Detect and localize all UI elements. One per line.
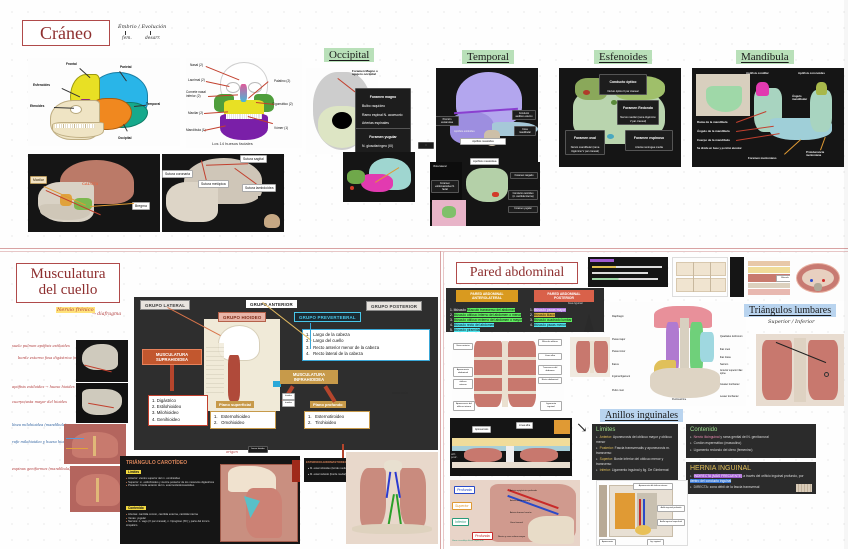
plano-superficial-list[interactable]: 1. Esternohioideo 2. Omohioideo [210,411,276,429]
header-posterior[interactable]: PARED ABDOMINAL POSTERIOR [534,290,594,302]
hand-nervio-frenico: Nervio frénico [56,308,95,314]
musculatura-infrahioidea-box[interactable]: MUSCULATURA INFRAHIOIDEA [280,370,338,384]
grupo-lateral-label[interactable]: GRUPO LATERAL [140,300,190,310]
signature-text: fosa inguinal [568,302,583,305]
hand-diafragma: → diafragma [92,312,121,317]
callout-name-1: Foramen Redondo [623,106,653,110]
triangulo-contenido-label: Contenido [126,506,146,510]
esternocleido-item-1: ▸ M. esternocleido (borde medial) [308,473,347,476]
cross-section-spine [814,283,822,291]
abdominal-top-dark-2[interactable] [730,257,744,297]
callout-foramen-redondo[interactable]: Foramen Redondo Nervio maxilar (rama tri… [617,100,659,125]
limites-item-1: Posterior: Fascia transversalis y aponeu… [596,446,674,456]
header-anterolateral[interactable]: PARED ABDOMINAL ANTEROLATERAL [456,290,518,302]
callout-line-blue [66,438,84,439]
pw-pelvis [650,368,720,398]
label-mandibula: Mandíbula (1) [186,128,206,132]
chip-foramen-estilomastoideo: Foramen estilomastoideo N. facial [431,180,459,193]
callout-name-0: Conducto óptico [610,80,637,84]
infrahyoid-muscle-right [400,468,426,528]
chip-temporal-left: Porción escamosa [436,116,459,126]
label-protuberancia-mentoniana: Protuberancia mentoniana [806,152,834,158]
callout-item-fm-0: Bulbo raquídeo [358,104,408,108]
pw-quadratus [700,332,714,362]
abd2-muscle-r [594,341,608,373]
iv-note-2: Arteria ilíaca externa [510,500,530,502]
occipital-callout-foramen-magno[interactable]: Foramen magno Bulbo raquídeo Ramo espina… [355,88,411,133]
pw-label-sacrum: Sacrum [720,363,728,366]
foramen-magnum-shape [332,112,352,129]
abdominal-muscle-photo-2[interactable] [570,337,614,377]
contenido-item-0: Nervio ilioinguinal y rama genital del N… [690,435,812,440]
limites-item-3: Inferior: Ligamento inguinal y lig. De G… [596,468,674,473]
nasal-cavity [240,84,247,102]
contenido-list: Nervio ilioinguinal y rama genital del N… [690,435,812,452]
callout-conducto-optico[interactable]: Conducto óptico Nervio óptico II par cra… [599,74,647,95]
abd-chip-8: Recto abdominal [538,377,562,384]
iv-note-4: Vena femoral [510,522,523,524]
plano-profundo-label[interactable]: Plano profundo [310,401,346,408]
label-apofisis-estiloides: Apófisis estiloides [454,130,475,133]
divider-horizontal [0,248,848,249]
chip-sutura-lambdoidea: Sutura lambdoidea [242,184,276,192]
pw-label-iliacus: Iliacus [612,363,619,366]
orbit-left [226,82,240,93]
label-foramen-mentoniano: Foramen mentoniano [748,156,776,160]
hernia-side-swatch [796,484,812,492]
abdominal-crosssection-card[interactable]: Aponeurosis Línea alba ant.post. [450,418,572,476]
contenido-item-2: Ligamento redondo del útero (femenino) [690,448,812,453]
mandible-inset-photo [696,74,750,116]
label-occipital: Occipital [118,136,131,140]
label-rama-mandibula: Rama de la mandíbula [697,120,728,124]
hernia-list: INDIRECTA (MÁS FRECUENTE) a través del o… [690,474,812,490]
ic-testis [635,525,651,535]
tri-lim-2: ▸ Posterior: borde anterior del m. ester… [126,484,218,488]
hand-nervio-frenico-text: Nervio frénico [56,307,95,313]
triangulo-red-block [292,460,300,482]
chip-maxilar: Maxilar [30,176,47,184]
label-cuerpo-mandibula: Cuerpo de la mandíbula [697,138,730,142]
ic-chip-bottom-l: Aponeurosis [599,539,616,546]
label-etmoides: Etmoides [30,104,44,108]
layer-fascia [748,283,794,288]
contenido-panel[interactable]: Contenido Nervio ilioinguinal y rama gen… [686,424,816,458]
abdominal-top-dark-card[interactable] [588,257,668,287]
section-title-craneo[interactable]: Cráneo [22,20,110,46]
pw-label-pectineal: Pectineal line [672,398,686,401]
cs-muscle-r [520,448,558,462]
cross-section-vessel-1 [810,279,813,282]
caption-14-huesos: Los 14 huesos faciales [212,141,253,146]
hand-insercion: inserción [392,392,408,396]
pw-label-greater-troch: Greater trochanter [720,384,742,387]
abd-tendon-3 [474,391,536,394]
chip-profunda[interactable]: Profunda [454,486,475,494]
label-apofisis-coronoides: Apófisis coronoides [798,71,825,75]
section-title-esfenoides[interactable]: Esfenoides [594,50,652,64]
callout-desc-3: Nervio mandibular (rama trigémino V par … [571,146,600,153]
callout-foramen-oval[interactable]: Foramen oval Nervio mandibular (rama tri… [565,130,605,155]
ic-chip-mid: Anillo inguinal profundo [657,505,685,512]
neck-illus-border [220,464,298,542]
hand-note-left-2: apófisis estiloides → hueso hioides [12,385,75,389]
triangulo-title: TRIÁNGULO CAROTÍDEO [126,460,187,466]
cs-chip-linea-alba: Línea alba [516,422,533,429]
neck-img-floor-mouth-1[interactable] [64,424,126,464]
scrollbar-vertical[interactable] [844,0,848,549]
orbit-socket [70,105,82,114]
pw-label-diaphragm: Diaphragm [612,315,624,318]
pw-label-quadratus: Quadratus lumborum [720,336,744,339]
iv-note-6: Vena circunfleja ilíaca superficial [452,540,484,542]
chip-temporal-mid: Apófisis mastoides [460,138,506,145]
label-vomer: Vómer (1) [274,126,288,130]
skull-thumbnail-shape [264,214,280,228]
callout-title-fm: Foramen magno [358,95,408,99]
abd-linea-alba [502,341,508,407]
hernia-item-1: DIRECTA: zona débil de la fascia transve… [690,485,812,490]
esfenoides-3d-card[interactable]: Conducto óptico Nervio óptico II par cra… [559,68,681,167]
lumbar-muscle-left [762,340,792,400]
anterolateral-list[interactable]: 1. Músculo Músculo transverso del abdome… [450,308,526,334]
grupo-posterior-label[interactable]: GRUPO POSTERIOR [366,301,422,311]
abd-muscle-right [508,341,536,407]
label-apofisis-condilar: Apófisis condilar [746,71,769,75]
abd-chip-9: Ligamento inguinal [540,401,562,411]
mouth-floor-raphe-1 [93,436,96,456]
pw-label-pubic-crest: Pubic crest [612,390,630,393]
ic-chip-top: Aponeurosis del oblicuo externo [633,483,673,490]
inguinal-canal-illustration[interactable]: Aponeurosis del oblicuo externo Anillo i… [596,480,688,546]
skull-lateral-diagram[interactable]: Frontal Parietal Esfenoides Etmoides Tem… [28,58,180,146]
chip-below-slide: hueso hioides [248,446,268,453]
contenido-header: Contenido [690,427,812,433]
triangulo-limites-list: ▸ Anterior: vientre superior del m. omoh… [126,477,218,488]
suprahioidea-item-3: 4. Genihioideo [152,417,204,423]
mandible-inset-green [706,86,742,112]
label-divide-base: Se divide en base y porción alveolar [697,147,742,150]
pw-label-lesser-troch: Lesser trochanter [720,396,742,399]
pw-label-iliac-crest: Iliac crest [720,348,730,351]
limites-header: Límites [596,427,674,433]
callout-item-fm-2: Arterias espinales [358,121,408,125]
temporal-3d-card[interactable]: Porción escamosa Apófisis mastoides Cond… [436,68,538,168]
arrow-suprahioidea-down [170,365,174,391]
foramen-ovale-hole [607,134,614,139]
top-card-purple-bar [590,259,614,262]
slide-skull-photo [218,325,260,361]
occipital-3d-magenta [361,174,393,192]
occipital-side-chip: :: [418,142,434,149]
chip-bregma: Bregma [132,202,150,210]
chip-slide-mini-1: hioides [282,393,295,400]
pw-label-psoas-minor: Psoas minor [612,350,625,353]
hand-note-left-0: suelo pulmon apófisis estiloides [12,344,70,348]
curved-arrow-annotation: ↘ [576,420,588,436]
connector-prevertebral [310,323,311,349]
lumbar-marker-dot [824,372,829,377]
infrahyoid-photo[interactable] [346,452,438,544]
occipital-3d-red-dot [350,186,354,190]
iv-note-1: Arteria epigástrica profunda [510,490,537,492]
top-card-line-3 [592,278,658,280]
skull-thumb-card[interactable] [258,196,284,232]
label-parietal: Parietal [120,65,132,69]
hernia-header: HERNIA INGUINAL [690,465,812,472]
chip-sutura-metopica: Sutura metópica [198,180,229,188]
diag-row-1 [676,262,726,276]
label-temporal: Temporal [146,102,160,106]
temporal-base-green [442,206,456,218]
plano-profundo-list[interactable]: 1. Esternotiroideo 2. Tirohioideo [304,411,370,429]
infrahyoid-clavicle [352,524,432,534]
label-angulo-mandibular: Ángulo mandibular [792,95,808,101]
posterior-wall-diagram[interactable]: Diaphragm Psoas major Psoas minor Iliacu… [610,302,746,406]
limites-list: Anterior: Aponeurosis del oblicuo mayor … [596,435,674,473]
chip-foramen-rasgado: Foramen rasgado [510,172,538,179]
divider-vertical-2 [443,251,444,549]
callout-desc-0: Nervio óptico II par craneal [608,90,639,93]
chip-sutura-coronaria: Sutura coronaria [162,170,193,178]
pw-label-iliac-fossa: Iliac fossa [720,356,731,359]
ic-cord-blue [643,499,645,527]
prevertebral-item-3: 4. Recto lateral de la cabeza [306,351,426,357]
handwritten-note-craneo-sub-left: fem. [122,36,132,41]
esternocleido-item-0: ▸ M. esternohioideo (borde medial) [308,467,348,470]
pw-label-inguinal-lig: Inguinal ligament [612,376,634,379]
handwritten-arrow-2 [150,31,151,35]
infrahyoid-green-line [387,494,395,528]
ic-chip-low: Anillo inguinal superficial [657,519,685,526]
chip-temporal-right-2: Fosa mandibular [514,126,536,136]
mandibula-card[interactable]: Apófisis condilar Apófisis coronoides Án… [692,68,844,167]
abd-muscle-left [474,341,502,407]
title-line-2: del cuello [39,283,98,299]
mandible-ramus-right-3d [810,90,832,132]
ic-left-column [599,485,607,537]
grupo-anterior-label[interactable]: GRUPO ANTERIOR [246,300,297,308]
chip-apofisis-mastoidea: Apófisis mastoidea [470,158,499,165]
layer-skin [748,261,794,266]
callout-title-fy: Foramen yugular [358,135,408,139]
abdominal-top-diagram-1[interactable] [672,257,728,297]
cs-muscle-l [464,448,502,462]
abd-tendon-2 [474,375,536,378]
top-card-line-1 [592,266,662,268]
condyle-magenta [756,82,769,96]
cs-chip-aponeurosis: Aponeurosis [472,426,491,433]
diag-sep-1 [693,262,694,292]
divider-vertical [440,251,441,549]
callout-foramen-espinoso[interactable]: Foramen espinoso Arteria meníngea media [625,130,673,151]
section-title-temporal[interactable]: Temporal [462,50,514,64]
label-lacrimal: Lacrimal (2) [188,78,205,82]
pared-abdominal-slide[interactable]: PARED ABDOMINAL ANTEROLATERAL PARED ABDO… [446,288,604,332]
abd-chip-6: Línea alba [538,353,562,360]
plano-superficial-label[interactable]: Plano superficial [216,401,254,408]
neck-img-mandible[interactable] [76,383,128,423]
triangulo-illustration [220,464,298,542]
abd-tendon-1 [474,357,536,360]
chip-superior[interactable]: Superior [452,502,472,510]
triangulo-carotideo-card[interactable]: TRIÁNGULO CAROTÍDEO Límites ▸ Anterior: … [120,456,300,544]
callout-desc-2: Arteria meníngea media [635,146,663,149]
grupo-hioideo-label[interactable]: GRUPO HIOIDEO [218,312,266,322]
cs-hand-label: ant.post. [451,454,457,460]
hand-note-left-4: línea milohioidea (mandíbula) [12,423,66,427]
lumbar-triangles-photo[interactable] [756,334,844,406]
label-nasal: Nasal (2) [190,63,203,67]
al-item-4: 5. Músculo piramidal [450,328,526,333]
chip-slide-mini-2: tiroides [282,400,295,407]
plano-prof-item-1: 2. Tirohioideo [308,420,366,426]
skull-photo-card-1[interactable]: Maxilar CALOTA Bregma [28,154,160,232]
abd-chip-2: Aponeurosis abdominal [453,367,473,377]
contenido-item-1: Cordón espermático (masculino) [690,441,812,446]
lumbar-spine-center [794,338,806,402]
pw-label-psoas-major: Psoas major [612,338,625,341]
ic-chip-bottom-r: Lig. inguinal [647,539,664,546]
abd-chip-3: oblicuo externo [453,379,473,389]
lumbar-muscle-right [808,340,838,400]
cross-section-vessel-2 [822,279,825,282]
label-cigomatico: Cigomático (2) [272,102,293,106]
neck-img-skull-lateral[interactable] [76,340,128,382]
coronoid-olive [816,82,827,95]
whiteboard-canvas[interactable]: Cráneo Émbrio / Evolución fem. desarr. F… [0,0,848,549]
cs-band-skin [452,438,570,446]
optic-canal-hole [583,90,590,95]
abd2-muscle-l [576,341,590,373]
occipital-3d-green [347,170,365,184]
teeth-row [55,124,95,128]
label-foramen-magno-arrow: Foramen Magno o agujero occipital [352,70,388,77]
callout-item-fy-0: N. glosofaríngeo (IX) [358,144,408,148]
label-frontal: Frontal [66,62,77,66]
slide-cervical-spine [228,355,240,401]
top-card-line-2 [592,272,648,274]
callout-desc-1: Nervio maxilar (rama trigémino V par cra… [620,116,655,123]
callout-item-fm-1: Ramo espinal N. accesorio [358,113,408,117]
label-esfenoides: Esfenoides [33,83,50,87]
hand-triangulos-lumbares: Superior / Inferior [768,320,814,326]
label-angulo-mandibula: Ángulo de la mandíbula [697,129,730,133]
infrahyoid-thyroid [384,460,402,472]
iv-femur [528,516,574,544]
triangulo-contenido-list: ▸ Arterias: carótida común, carótida ext… [126,513,218,528]
layer-peritoneum [748,289,794,295]
slide-spine-labels [206,343,224,395]
hernia-item-0: INDIRECTA (MÁS FRECUENTE) a través del o… [690,474,812,484]
arrow-to-esternocleido [342,444,344,458]
handwritten-note-craneo: Émbrio / Evolución [118,25,166,31]
section-title-triangulos-lumbares[interactable]: Triángulos lumbares [744,304,836,317]
section-title-pared-abdominal[interactable]: Pared abdominal [456,262,578,284]
abd2-linea [590,341,594,373]
label-vista-lateral: Vista lateral [433,165,447,168]
label-cornete-nasal: Cornete nasal inferior (2) [186,91,208,98]
ic-cord-red [639,499,641,527]
iv-note-3: Arteria femoral común [510,512,532,514]
inguinal-vessels-photo[interactable]: Profunda Superior Inferior Profunda Arte… [450,480,580,546]
abd-chip-1: Vaina anterior [453,343,473,350]
temporal-detail-bone [466,168,508,202]
hand-note-left-3: cuerpo/asta mayor del hioides [12,400,67,404]
abd-chip-4: Aponeurosis del oblicuo interno [453,401,475,411]
leader-mand-4 [784,139,801,154]
plano-sup-item-1: 2. Omohioideo [214,420,272,426]
callout-line-orange [66,448,88,449]
suprahioidea-list[interactable]: 1. Digástrico 2. Estilohioideo 3. Milohi… [148,395,208,426]
leader-mand-3 [736,133,780,141]
chip-sutura-sagital: Sutura sagital [240,155,267,163]
hernia-inguinal-panel[interactable]: HERNIA INGUINAL INDIRECTA (MÁS FRECUENTE… [686,462,816,494]
hand-note-left-5: rafe milohioideo y hueso hioides [12,440,71,444]
callout-name-2: Foramen espinoso [634,136,664,140]
chip-inferior[interactable]: Inferior [452,518,469,526]
handwritten-arrow-1 [125,31,126,35]
pw-label-asis: Anterior superior iliac spine [720,370,744,375]
chip-temporal-right-1: Conducto auditivo externo [512,110,536,120]
facial-bones-diagram[interactable]: Nasal (2) Lacrimal (2) Cornete nasal inf… [186,58,302,148]
triangulo-limites-label: Límites [126,470,141,474]
diag-row-2 [676,278,726,292]
hand-origen: origen [226,450,238,454]
section-title-mandibula[interactable]: Mandíbula [736,50,794,64]
cs-band-deep [452,462,570,468]
chip-foramen-yugular-temporal: Foramen yugular [508,206,538,213]
label-maxilar: Maxilar (2) [188,111,203,115]
abd-chip-5: Músculo oblicuo [538,339,562,346]
chip-conducto-carotideo: Conducto carotídeo (A. carótida interna) [508,190,538,200]
divider-horizontal-2 [0,251,848,252]
infrahyoid-muscle-left [360,468,386,528]
neck-img-floor-mouth-2[interactable] [70,466,126,512]
section-title-occipital[interactable]: Occipital [324,48,374,62]
title-line-1: Musculatura [31,267,106,283]
section-title-anillos-inguinales[interactable]: Anillos inguinales [600,409,683,422]
chip-calota: CALOTA [80,180,100,187]
label-palatino: Palatino (2) [274,79,290,83]
tri-cont-2: ▸ Nervios: n. vago (X par craneal), n. h… [126,520,218,527]
temporal-detail-red [492,192,499,197]
cs-orange-block [554,420,570,434]
limites-panel[interactable]: Límites Anterior: Aponeurosis del oblicu… [592,424,678,480]
abdominal-muscle-photo[interactable]: Vaina anterior Aponeurosis abdominal obl… [452,335,564,415]
iv-note-5: Nervio y vena safena mayor [498,536,525,538]
callout-name-3: Foramen oval [574,136,596,140]
prevertebral-list[interactable]: 1. Largo de la cabeza 2. Largo del cuell… [302,329,430,361]
ic-orange-panel [615,493,635,529]
neck-muscles-slide[interactable]: GRUPO LATERAL GRUPO ANTERIOR GRUPO POSTE… [134,297,438,450]
grupo-prevertebral-label[interactable]: GRUPO PREVERTEBRAL [294,312,361,322]
diag-sep-2 [710,262,711,292]
limites-item-0: Anterior: Aponeurosis del oblicuo mayor … [596,435,674,445]
temporal-detail-card[interactable]: Vista lateral Foramen estilomastoideo N.… [430,162,540,226]
leader-mand-5 [820,137,825,150]
layer-fat [748,267,794,273]
musculatura-suprahioidea-box[interactable]: MUSCULATURA SUPRAHIOIDEA [142,349,202,365]
mouth-floor-raphe-2 [96,478,99,502]
occipital-3d-card[interactable] [343,152,415,202]
abdominal-cross-section[interactable] [790,255,846,301]
limites-item-2: Superior: Borde inferior del oblicuo men… [596,457,674,467]
section-title-musculatura-cuello[interactable]: Musculatura del cuello [16,263,120,303]
handwritten-note-craneo-sub-right: desarr. [145,36,160,41]
abd-chip-7: Transverso del abdomen [538,365,562,375]
